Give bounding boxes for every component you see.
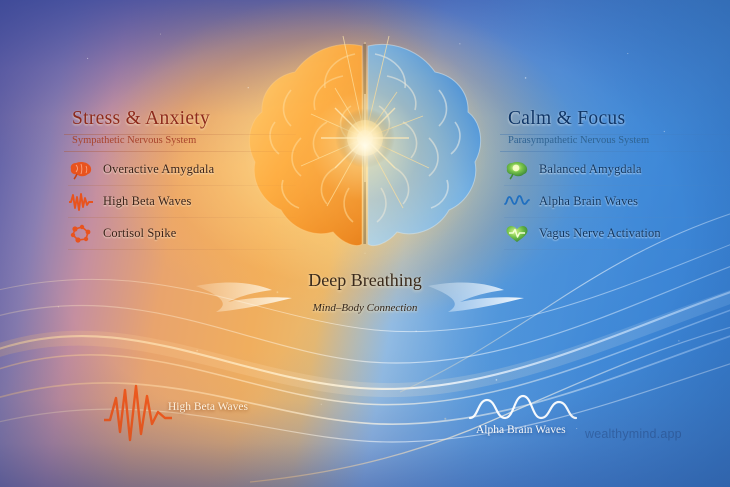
jagged-waveform-icon	[68, 190, 94, 214]
watermark: wealthymind.app	[585, 427, 682, 441]
list-item[interactable]: Vagus Nerve Activation	[500, 218, 730, 249]
list-item[interactable]: Balanced Amygdala	[500, 154, 730, 185]
left-panel-list: Overactive Amygdala High Beta Waves	[64, 154, 296, 250]
list-item-label: High Beta Waves	[103, 194, 191, 209]
right-panel-title: Calm & Focus	[500, 108, 730, 130]
list-item[interactable]: High Beta Waves	[64, 186, 296, 217]
row-divider	[68, 249, 296, 250]
row-divider	[504, 249, 730, 250]
right-panel-subtitle: Parasympathetic Nervous System	[500, 135, 730, 151]
center-caption: Mind–Body Connection	[0, 302, 730, 314]
sine-wave-icon	[504, 190, 530, 214]
heart-pulse-icon	[504, 222, 530, 246]
list-item[interactable]: Alpha Brain Waves	[500, 186, 730, 217]
infographic-canvas: Stress & Anxiety Sympathetic Nervous Sys…	[0, 0, 730, 487]
left-panel-title: Stress & Anxiety	[64, 108, 296, 130]
left-panel-subtitle: Sympathetic Nervous System	[64, 135, 296, 151]
green-brain-icon	[504, 158, 530, 182]
brain-icon	[68, 158, 94, 182]
list-item-label: Balanced Amygdala	[539, 162, 642, 177]
bottom-cool-label: Alpha Brain Waves	[476, 424, 566, 436]
list-item-label: Alpha Brain Waves	[539, 194, 638, 209]
sine-wave-icon	[470, 396, 576, 418]
list-item[interactable]: Overactive Amygdala	[64, 154, 296, 185]
list-item-label: Cortisol Spike	[103, 226, 176, 241]
center-headline: Deep Breathing	[0, 270, 730, 291]
list-item[interactable]: Cortisol Spike	[64, 218, 296, 249]
left-subtitle-rule	[64, 151, 296, 152]
molecule-icon	[68, 222, 94, 246]
center-transition-band: Deep Breathing Mind–Body Connection	[0, 262, 730, 328]
right-subtitle-rule	[500, 151, 730, 152]
jagged-waveform-icon	[104, 386, 172, 440]
right-panel-calm: Calm & Focus Parasympathetic Nervous Sys…	[500, 108, 730, 250]
list-item-label: Overactive Amygdala	[103, 162, 214, 177]
right-panel-list: Balanced Amygdala Alpha Brain Waves	[500, 154, 730, 250]
left-panel-stress: Stress & Anxiety Sympathetic Nervous Sys…	[64, 108, 296, 250]
bottom-warm-label: High Beta Waves	[168, 401, 248, 413]
list-item-label: Vagus Nerve Activation	[539, 226, 661, 241]
